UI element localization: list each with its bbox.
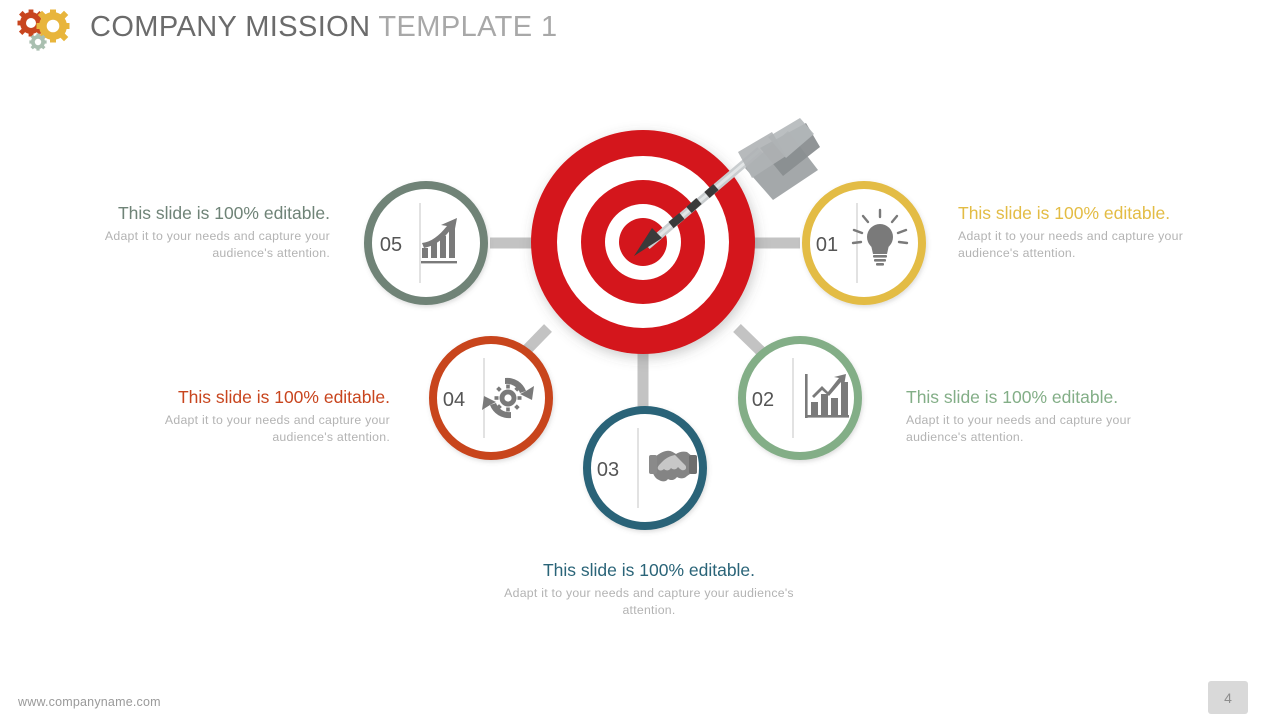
text-block-05: This slide is 100% editable. Adapt it to… (62, 203, 330, 263)
node-number-03: 03 (597, 459, 619, 481)
text-block-04-heading: This slide is 100% editable. (122, 387, 390, 409)
text-block-02-body: Adapt it to your needs and capture your … (906, 412, 1164, 447)
node-number-05: 05 (380, 234, 402, 256)
text-block-05-heading: This slide is 100% editable. (62, 203, 330, 225)
text-block-03-body: Adapt it to your needs and capture your … (494, 585, 804, 620)
mission-diagram: 05 01 (0, 0, 1280, 720)
node-number-01: 01 (816, 234, 838, 256)
text-block-03: This slide is 100% editable. Adapt it to… (494, 560, 804, 620)
text-block-02: This slide is 100% editable. Adapt it to… (906, 387, 1164, 447)
text-block-01: This slide is 100% editable. Adapt it to… (958, 203, 1206, 263)
node-number-04: 04 (443, 389, 465, 411)
text-block-02-heading: This slide is 100% editable. (906, 387, 1164, 409)
text-block-01-heading: This slide is 100% editable. (958, 203, 1206, 225)
text-block-05-body: Adapt it to your needs and capture your … (62, 228, 330, 263)
text-block-01-body: Adapt it to your needs and capture your … (958, 228, 1206, 263)
text-block-04: This slide is 100% editable. Adapt it to… (122, 387, 390, 447)
page-number-badge: 4 (1208, 681, 1248, 714)
node-number-02: 02 (752, 389, 774, 411)
text-block-04-body: Adapt it to your needs and capture your … (122, 412, 390, 447)
text-block-03-heading: This slide is 100% editable. (494, 560, 804, 582)
footer-website-url: www.companyname.com (18, 695, 161, 709)
